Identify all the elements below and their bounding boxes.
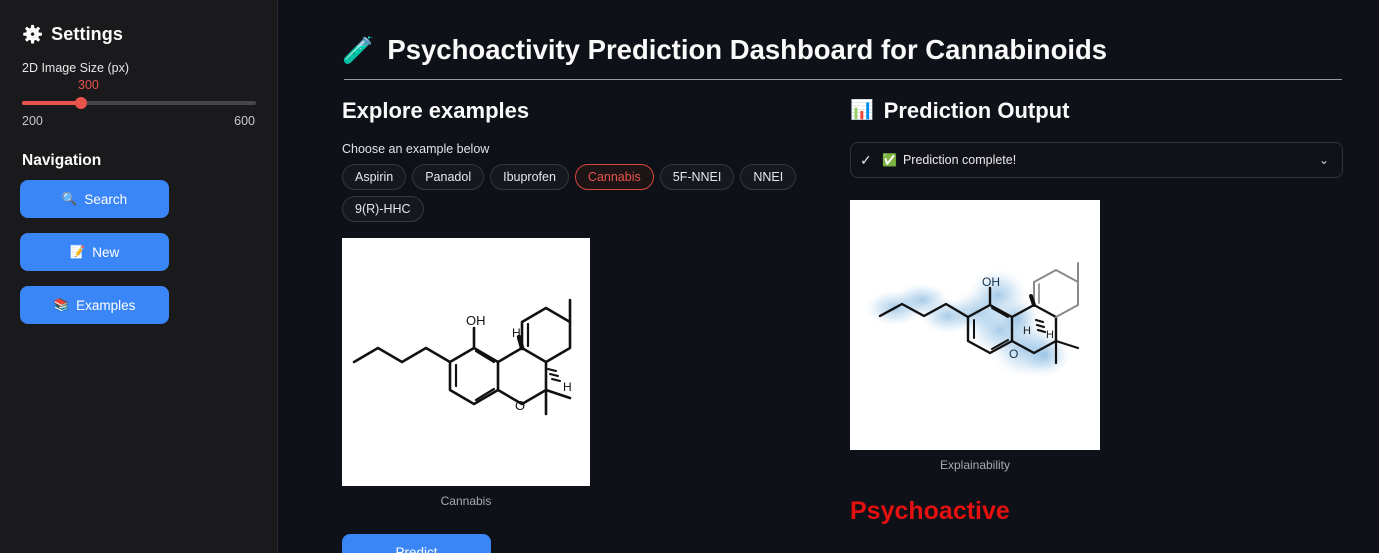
svg-text:H: H [1023, 325, 1031, 337]
example-chip-5f-nnei[interactable]: 5F-NNEI [660, 164, 735, 190]
prediction-output-title: 📊 Prediction Output [850, 97, 1343, 125]
label-hydroxyl: OH [466, 313, 486, 328]
example-chip-aspirin[interactable]: Aspirin [342, 164, 406, 190]
success-check-icon: ✅ [882, 153, 897, 167]
nav-button-examples-label: Examples [76, 298, 135, 313]
example-chip-nnei[interactable]: NNEI [740, 164, 796, 190]
sidebar: ⚙️ Settings 2D Image Size (px) 300 200 6… [0, 0, 278, 553]
molecule-2d-image: OH H H O [342, 238, 590, 486]
explainability-image: OH H H O [850, 200, 1100, 450]
label-h-top: H [512, 326, 521, 340]
image-size-slider-group: 2D Image Size (px) 300 200 600 [20, 61, 257, 128]
label-oxygen: O [515, 398, 525, 413]
chevron-down-icon[interactable]: ⌄ [1319, 153, 1329, 167]
slider-label: 2D Image Size (px) [22, 61, 257, 75]
molecule-caption: Cannabis [342, 494, 590, 508]
columns: Explore examples Choose an example below… [342, 97, 1340, 553]
image-size-slider[interactable] [20, 94, 257, 112]
nav-button-search-label: Search [84, 192, 127, 207]
gear-icon: ⚙️ [22, 26, 43, 43]
app-root: ⚙️ Settings 2D Image Size (px) 300 200 6… [0, 0, 1379, 553]
prediction-output-panel: 📊 Prediction Output ✓ ✅ Prediction compl… [848, 97, 1343, 553]
slider-min-label: 200 [22, 114, 43, 128]
example-chip-group: Aspirin Panadol Ibuprofen Cannabis 5F-NN… [342, 164, 848, 222]
page-title-text: Psychoactivity Prediction Dashboard for … [387, 30, 1107, 70]
page-title: 🧪 Psychoactivity Prediction Dashboard fo… [342, 30, 1340, 70]
search-icon: 🔍 [62, 193, 78, 206]
svg-text:H: H [1046, 329, 1054, 341]
slider-value: 300 [78, 77, 257, 93]
nav-button-new[interactable]: 📝 New [20, 233, 169, 271]
prediction-verdict: Psychoactive [850, 496, 1343, 526]
example-chip-panadol[interactable]: Panadol [412, 164, 484, 190]
example-chip-ibuprofen[interactable]: Ibuprofen [490, 164, 569, 190]
explore-examples-title: Explore examples [342, 97, 848, 125]
svg-text:OH: OH [982, 275, 1000, 289]
check-icon: ✓ [860, 152, 882, 169]
example-chip-9r-hhc[interactable]: 9(R)-HHC [342, 196, 424, 222]
nav-button-new-label: New [92, 245, 119, 260]
prediction-status-message: Prediction complete! [903, 153, 1319, 167]
navigation-title: Navigation [22, 152, 257, 170]
main-content: 🧪 Psychoactivity Prediction Dashboard fo… [278, 0, 1379, 553]
svg-text:O: O [1009, 347, 1018, 361]
prediction-output-title-text: Prediction Output [884, 97, 1070, 125]
predict-button[interactable]: Predict [342, 534, 491, 553]
nav-button-search[interactable]: 🔍 Search [20, 180, 169, 218]
slider-bounds: 200 600 [20, 114, 257, 128]
books-icon: 📚 [54, 299, 70, 312]
choose-example-label: Choose an example below [342, 142, 848, 156]
label-h-right: H [563, 380, 572, 394]
title-divider [344, 79, 1342, 80]
settings-header: ⚙️ Settings [22, 24, 257, 45]
nav-button-examples[interactable]: 📚 Examples [20, 286, 169, 324]
explore-examples-panel: Explore examples Choose an example below… [342, 97, 848, 553]
slider-fill [22, 101, 81, 105]
settings-title: Settings [51, 24, 123, 45]
slider-max-label: 600 [234, 114, 255, 128]
pencil-icon: 📝 [70, 246, 86, 259]
slider-thumb[interactable] [75, 97, 87, 109]
explainability-caption: Explainability [850, 458, 1100, 472]
bar-chart-icon: 📊 [850, 97, 874, 125]
test-tube-icon: 🧪 [342, 30, 374, 70]
example-chip-cannabis[interactable]: Cannabis [575, 164, 654, 190]
prediction-status-accordion[interactable]: ✓ ✅ Prediction complete! ⌄ [850, 142, 1343, 178]
